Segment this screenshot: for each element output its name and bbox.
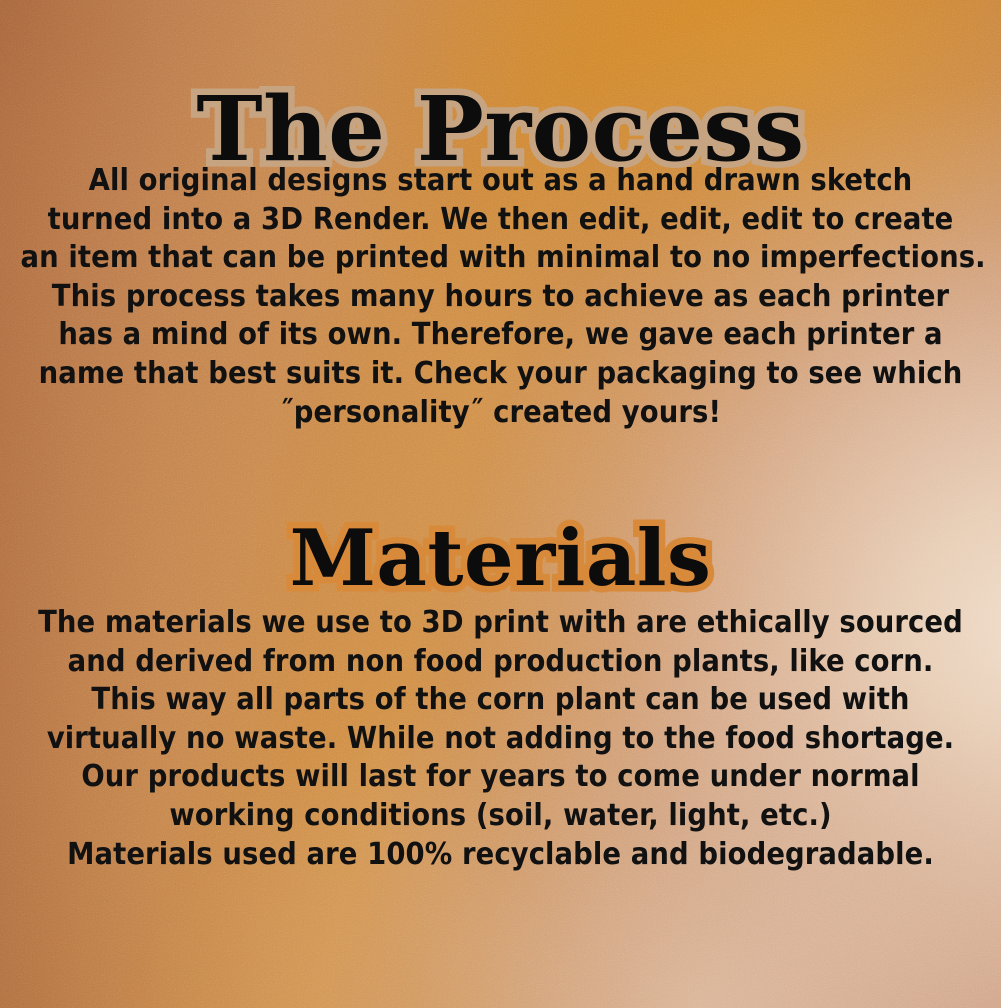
body-line: This way all parts of the corn plant can… [21,681,981,720]
page-title-materials: Materials [0,520,1001,598]
body-line: Our products will last for years to come… [21,758,981,797]
info-graphic-canvas: The Process All original designs start o… [0,0,1001,1008]
body-line: virtually no waste. While not adding to … [21,720,981,759]
body-line: This process takes many hours to achieve… [21,278,981,317]
body-line: has a mind of its own. Therefore, we gav… [21,316,981,355]
body-line: an item that can be printed with minimal… [21,239,981,278]
body-line: The materials we use to 3D print with ar… [21,604,981,643]
body-line: All original designs start out as a hand… [21,162,981,201]
body-line: turned into a 3D Render. We then edit, e… [21,201,981,240]
page-title-the-process: The Process [0,84,1001,173]
body-line: Materials used are 100% recyclable and b… [21,836,981,875]
body-line: name that best suits it. Check your pack… [21,355,981,394]
body-paragraph-materials: The materials we use to 3D print with ar… [21,604,981,874]
body-line: working conditions (soil, water, light, … [21,797,981,836]
body-line: ˝personality˝ created yours! [21,394,981,433]
body-line: and derived from non food production pla… [21,643,981,682]
body-paragraph-process: All original designs start out as a hand… [21,162,981,432]
